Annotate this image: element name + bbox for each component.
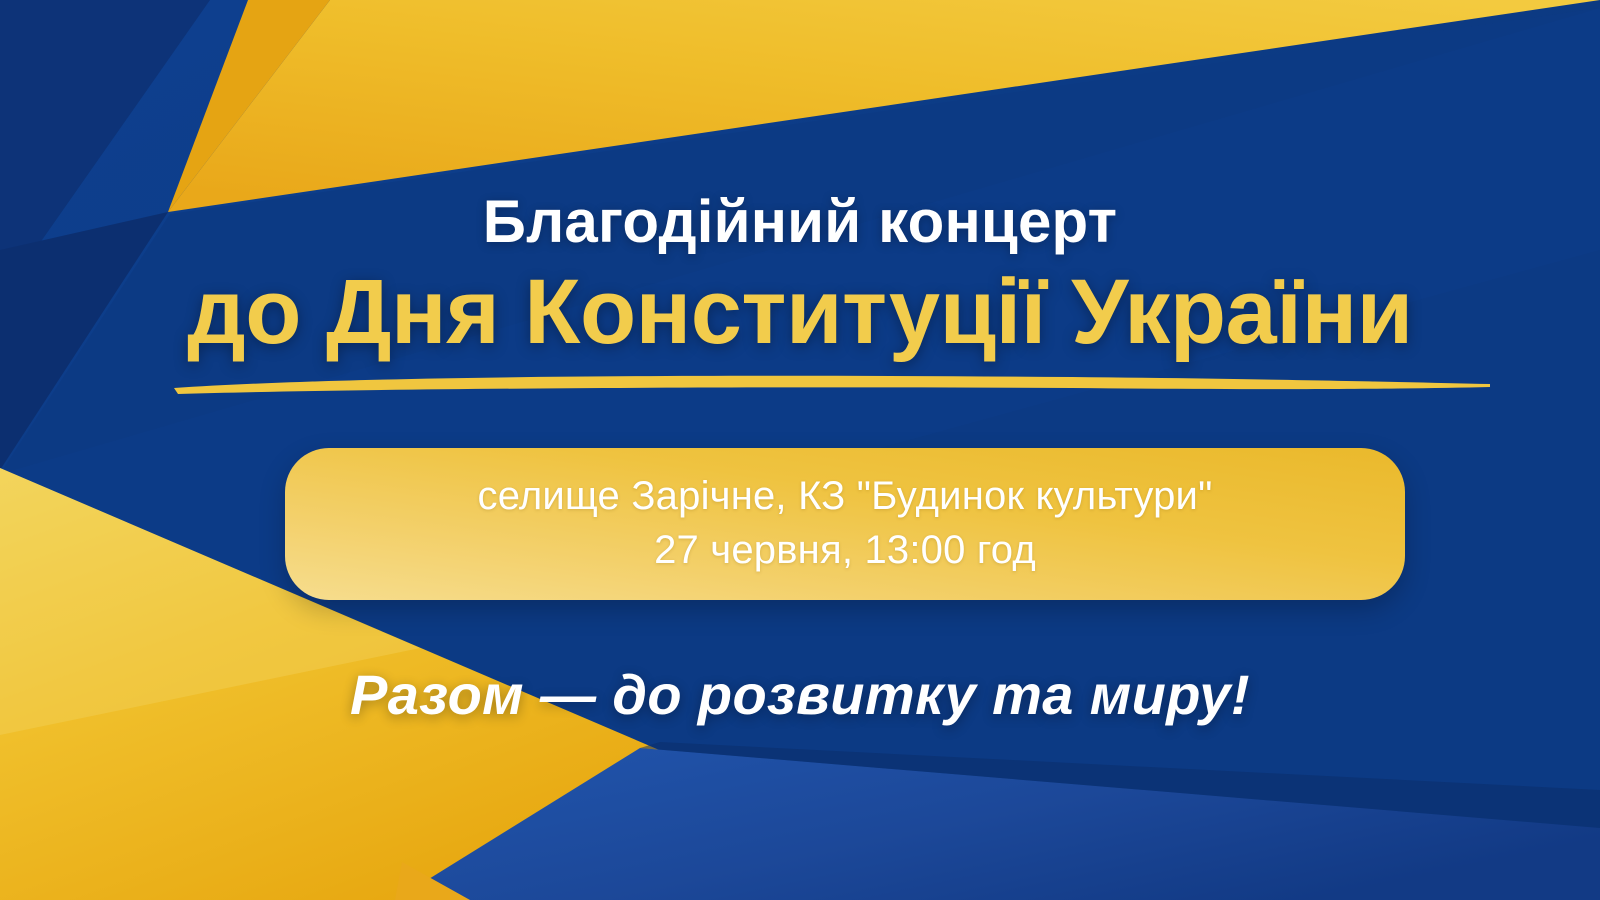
event-poster: Благодійний концерт до Дня Конституції У… bbox=[0, 0, 1600, 900]
poster-title: до Дня Конституції України bbox=[0, 263, 1600, 362]
poster-tagline: Разом — до розвитку та миру! bbox=[0, 662, 1600, 727]
headline-block: Благодійний концерт до Дня Конституції У… bbox=[0, 188, 1600, 363]
poster-eyebrow: Благодійний концерт bbox=[0, 188, 1600, 255]
title-underline bbox=[172, 368, 1492, 398]
event-info-box: селище Зарічне, КЗ "Будинок культури" 27… bbox=[285, 448, 1405, 600]
event-venue: селище Зарічне, КЗ "Будинок культури" bbox=[478, 470, 1213, 524]
event-datetime: 27 червня, 13:00 год bbox=[654, 524, 1036, 578]
poster-content: Благодійний концерт до Дня Конституції У… bbox=[0, 0, 1600, 900]
